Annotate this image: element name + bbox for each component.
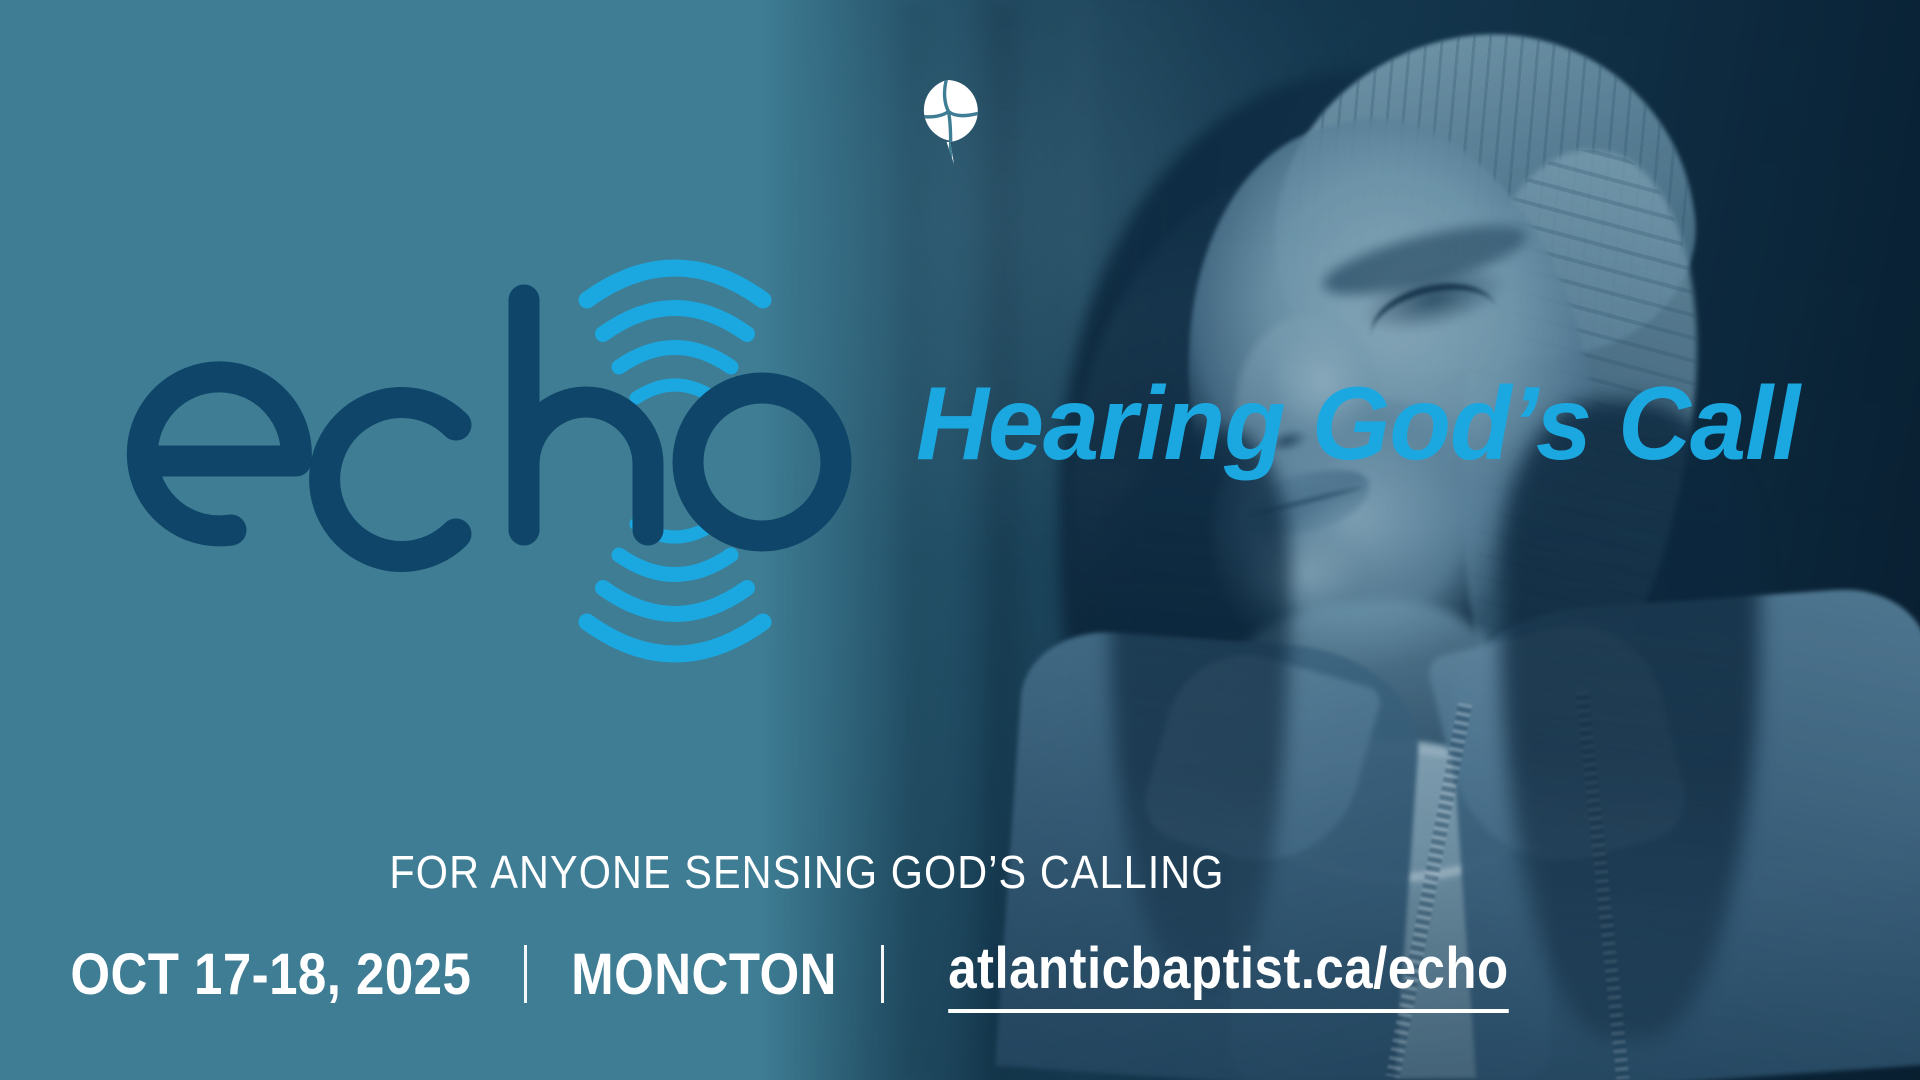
footer-details: OCT 17-18, 2025 MONCTON atlanticbaptist.… [0,935,1920,1013]
subtitle: FOR ANYONE SENSING GOD’S CALLING [96,845,1824,899]
tagline: Hearing God’s Call [916,372,1799,476]
cbac-globe-icon [910,78,984,168]
event-url-link[interactable]: atlanticbaptist.ca/echo [949,935,1509,1013]
echo-letters [142,300,836,557]
echo-wordmark [120,240,920,640]
footer-divider-1 [524,945,527,1003]
footer-divider-2 [881,945,884,1003]
event-location: MONCTON [572,941,838,1008]
event-date: OCT 17-18, 2025 [70,941,471,1008]
echo-event-poster: Hearing God’s Call FOR ANYONE SENSING GO… [0,0,1920,1080]
